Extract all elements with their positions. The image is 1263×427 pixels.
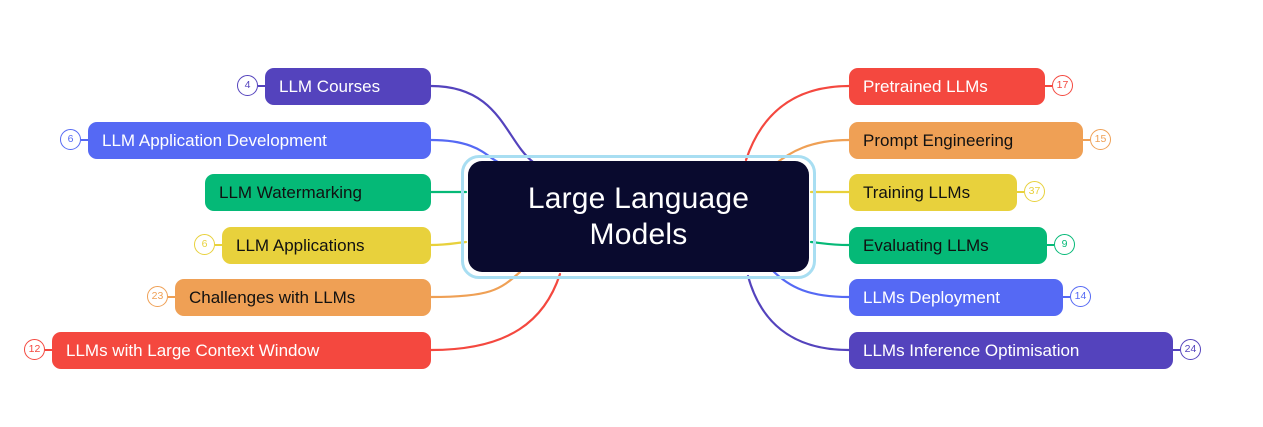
branch-count-value: 15 <box>1095 134 1107 145</box>
link-llms-inference-optimisation <box>748 276 849 350</box>
link-llms-large-context-window <box>431 274 560 350</box>
mindmap-canvas: Large Language Models LLM Courses4LLM Ap… <box>0 0 1263 427</box>
branch-node-prompt-engineering[interactable]: Prompt Engineering <box>849 122 1083 159</box>
branch-count-badge-llm-applications[interactable]: 6 <box>194 234 215 255</box>
branch-count-badge-training-llms[interactable]: 37 <box>1024 181 1045 202</box>
branch-count-value: 6 <box>202 239 208 250</box>
branch-count-value: 37 <box>1029 186 1041 197</box>
branch-count-badge-challenges-with-llms[interactable]: 23 <box>147 286 168 307</box>
branch-node-label: LLM Applications <box>236 236 365 256</box>
branch-count-badge-llm-application-development[interactable]: 6 <box>60 129 81 150</box>
link-evaluating-llms <box>811 242 849 245</box>
branch-node-llm-watermarking[interactable]: LLM Watermarking <box>205 174 431 211</box>
branch-node-llms-with-large-context-window[interactable]: LLMs with Large Context Window <box>52 332 431 369</box>
branch-count-badge-llms-with-large-context-window[interactable]: 12 <box>24 339 45 360</box>
branch-node-llms-deployment[interactable]: LLMs Deployment <box>849 279 1063 316</box>
branch-count-value: 24 <box>1185 344 1197 355</box>
badge-connector-stub <box>258 85 265 87</box>
branch-count-value: 12 <box>29 344 41 355</box>
branch-count-badge-evaluating-llms[interactable]: 9 <box>1054 234 1075 255</box>
branch-node-llm-courses[interactable]: LLM Courses <box>265 68 431 105</box>
branch-node-label: Training LLMs <box>863 183 970 203</box>
badge-connector-stub <box>1047 244 1054 246</box>
branch-node-label: Challenges with LLMs <box>189 288 355 308</box>
badge-connector-stub <box>1045 85 1052 87</box>
branch-count-badge-llms-deployment[interactable]: 14 <box>1070 286 1091 307</box>
branch-count-badge-llm-courses[interactable]: 4 <box>237 75 258 96</box>
branch-count-value: 17 <box>1057 80 1069 91</box>
branch-count-value: 23 <box>152 291 164 302</box>
branch-node-challenges-with-llms[interactable]: Challenges with LLMs <box>175 279 431 316</box>
branch-node-evaluating-llms[interactable]: Evaluating LLMs <box>849 227 1047 264</box>
branch-count-badge-prompt-engineering[interactable]: 15 <box>1090 129 1111 150</box>
branch-node-label: Pretrained LLMs <box>863 77 988 97</box>
branch-node-label: Prompt Engineering <box>863 131 1013 151</box>
badge-connector-stub <box>81 139 88 141</box>
central-node[interactable]: Large Language Models <box>468 161 809 272</box>
branch-node-pretrained-llms[interactable]: Pretrained LLMs <box>849 68 1045 105</box>
central-node-label: Large Language Models <box>528 181 749 252</box>
badge-connector-stub <box>1017 191 1024 193</box>
badge-connector-stub <box>1063 296 1070 298</box>
branch-node-label: LLMs Inference Optimisation <box>863 341 1079 361</box>
branch-count-badge-pretrained-llms[interactable]: 17 <box>1052 75 1073 96</box>
badge-connector-stub <box>45 349 52 351</box>
badge-connector-stub <box>1173 349 1180 351</box>
branch-node-llm-application-development[interactable]: LLM Application Development <box>88 122 431 159</box>
branch-node-label: LLM Courses <box>279 77 380 97</box>
branch-count-value: 9 <box>1062 239 1068 250</box>
branch-count-value: 14 <box>1075 291 1087 302</box>
badge-connector-stub <box>215 244 222 246</box>
badge-connector-stub <box>1083 139 1090 141</box>
branch-count-value: 4 <box>245 80 251 91</box>
badge-connector-stub <box>168 296 175 298</box>
branch-node-label: LLM Application Development <box>102 131 327 151</box>
branch-node-label: Evaluating LLMs <box>863 236 989 256</box>
branch-node-llms-inference-optimisation[interactable]: LLMs Inference Optimisation <box>849 332 1173 369</box>
branch-count-value: 6 <box>68 134 74 145</box>
branch-count-badge-llms-inference-optimisation[interactable]: 24 <box>1180 339 1201 360</box>
branch-node-training-llms[interactable]: Training LLMs <box>849 174 1017 211</box>
branch-node-label: LLM Watermarking <box>219 183 362 203</box>
branch-node-llm-applications[interactable]: LLM Applications <box>222 227 431 264</box>
branch-node-label: LLMs with Large Context Window <box>66 341 319 361</box>
branch-node-label: LLMs Deployment <box>863 288 1000 308</box>
